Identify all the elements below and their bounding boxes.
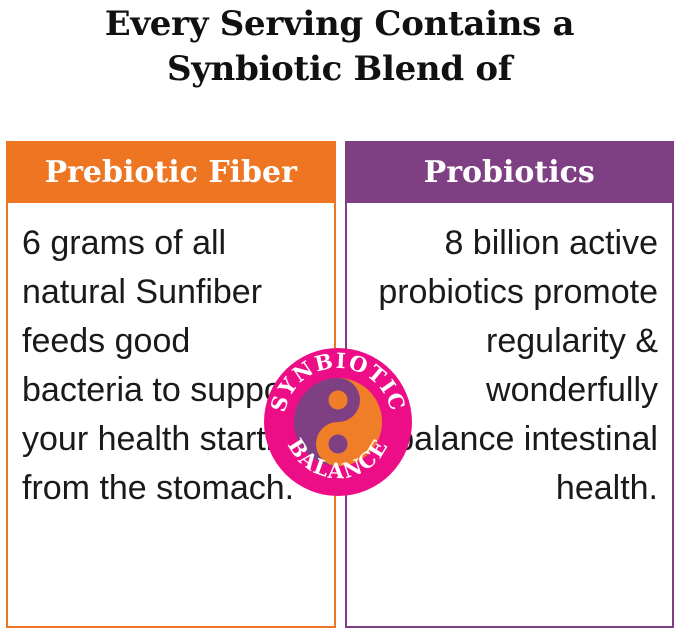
- page-title: Every Serving Contains a Synbiotic Blend…: [0, 2, 679, 92]
- panel-header-probiotics: Probiotics: [345, 141, 675, 203]
- page-title-line-1: Every Serving Contains a: [0, 2, 679, 47]
- synbiotic-balance-badge: SYNBIOTIC BALANCE: [264, 348, 412, 496]
- panel-header-prebiotic-fiber: Prebiotic Fiber: [6, 141, 336, 203]
- page-title-line-2: Synbiotic Blend of: [0, 47, 679, 92]
